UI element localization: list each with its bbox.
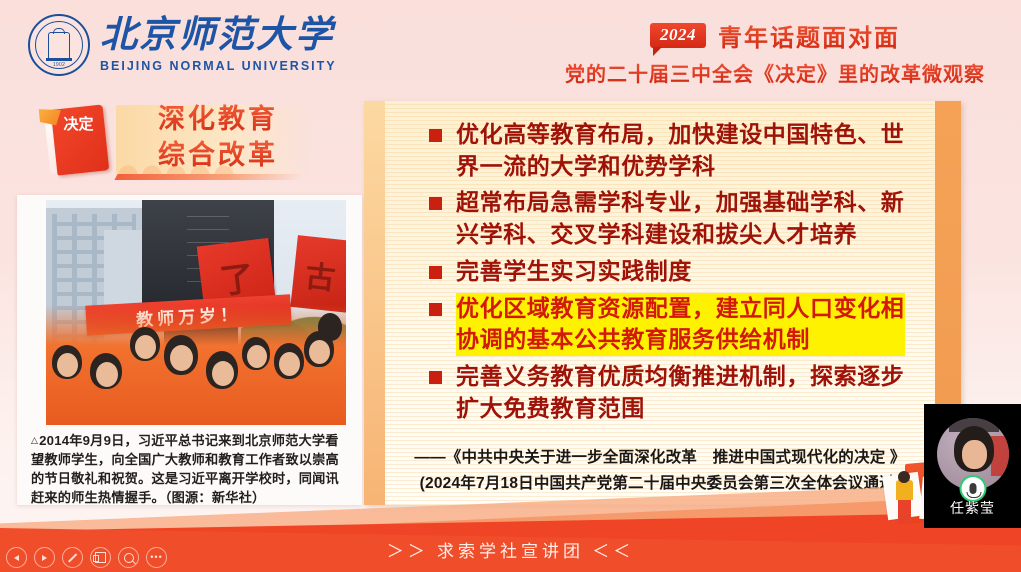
pen-tool-icon[interactable]: [62, 547, 83, 568]
book-label: 决定: [60, 117, 96, 134]
bullet-text: 优化区域教育资源配置，建立同人口变化相协调的基本公共教育服务供给机制: [456, 293, 905, 356]
bullet-item: 超常布局急需学科专业，加强基础学科、新兴学科、交叉学科建设和拔尖人才培养: [429, 187, 905, 250]
bullet-text: 完善义务教育优质均衡推进机制，探索逐步扩大免费教育范围: [456, 361, 905, 424]
panel-left-border: [364, 101, 385, 505]
section-title-band: 决定 深化教育 综合改革: [38, 101, 308, 179]
caption-marker-icon: △: [31, 435, 38, 445]
photo-card: 教师万岁！ △2014年9月9日，: [17, 195, 362, 505]
section-title-text: 深化教育 综合改革: [158, 101, 278, 174]
program-subtitle: 党的二十届三中全会《决定》里的改革微观察: [565, 58, 985, 87]
bullet-item: 完善义务教育优质均衡推进机制，探索逐步扩大免费教育范围: [429, 361, 905, 424]
section-title-line2: 综合改革: [158, 137, 278, 173]
decision-book-icon: 决定: [40, 99, 119, 180]
program-title: 青年话题面对面: [718, 18, 900, 53]
slide-canvas: 1902 北京师范大学 BEIJING NORMAL UNIVERSITY 20…: [0, 0, 1021, 572]
bullet-square-icon: [429, 371, 442, 384]
play-slide-icon[interactable]: [34, 547, 55, 568]
citation-source: ——《中共中央关于进一步全面深化改革 推进中国式现代化的决定 》: [411, 445, 909, 467]
bullet-text: 完善学生实习实践制度: [456, 256, 692, 288]
bullet-item-highlighted: 优化区域教育资源配置，建立同人口变化相协调的基本公共教育服务供给机制: [429, 293, 905, 356]
bullet-list: 优化高等教育布局，加快建设中国特色、世界一流的大学和优势学科 超常布局急需学科专…: [429, 119, 905, 430]
previous-slide-icon[interactable]: [6, 547, 27, 568]
bullet-square-icon: [429, 129, 442, 142]
content-panel: 优化高等教育布局，加快建设中国特色、世界一流的大学和优势学科 超常布局急需学科专…: [364, 101, 961, 505]
slideshow-toolbar[interactable]: •••: [6, 547, 167, 568]
bullet-item: 优化高等教育布局，加快建设中国特色、世界一流的大学和优势学科: [429, 119, 905, 182]
more-options-icon[interactable]: •••: [146, 547, 167, 568]
logo-english-name: BEIJING NORMAL UNIVERSITY: [100, 59, 337, 73]
panel-body: 优化高等教育布局，加快建设中国特色、世界一流的大学和优势学科 超常布局急需学科专…: [385, 101, 935, 505]
magnifier-icon[interactable]: [118, 547, 139, 568]
presenter-name: 任紫莹: [924, 498, 1021, 518]
program-title-block: 2024 青年话题面对面 党的二十届三中全会《决定》里的改革微观察: [565, 18, 985, 87]
year-badge: 2024: [650, 23, 706, 48]
caption-text: 2014年9月9日，习近平总书记来到北京师范大学看望教师学生，向全国广大教师和教…: [31, 433, 339, 505]
photo-crowd: [46, 305, 346, 425]
logo-chinese-name: 北京师范大学: [100, 17, 337, 56]
citation-block: ——《中共中央关于进一步全面深化改革 推进中国式现代化的决定 》 (2024年7…: [411, 445, 909, 493]
photo-caption: △2014年9月9日，习近平总书记来到北京师范大学看望教师学生，向全国广大教师和…: [17, 427, 362, 508]
presenter-video-tile[interactable]: 任紫莹: [924, 404, 1021, 528]
microphone-icon[interactable]: [961, 477, 984, 500]
bullet-text: 超常布局急需学科专业，加强基础学科、新兴学科、交叉学科建设和拔尖人才培养: [456, 187, 905, 250]
bullet-square-icon: [429, 197, 442, 210]
university-seal-icon: 1902: [28, 14, 90, 76]
photo-sign-2: [290, 235, 346, 313]
bullet-text: 优化高等教育布局，加快建设中国特色、世界一流的大学和优势学科: [456, 119, 905, 182]
seal-year: 1902: [30, 62, 88, 68]
slide-layout-icon[interactable]: [90, 547, 111, 568]
bullet-square-icon: [429, 303, 442, 316]
bullet-item: 完善学生实习实践制度: [429, 256, 905, 288]
university-logo: 1902 北京师范大学 BEIJING NORMAL UNIVERSITY: [28, 14, 337, 76]
section-title-line1: 深化教育: [158, 101, 278, 137]
news-photo: 教师万岁！: [46, 200, 346, 425]
bullet-square-icon: [429, 266, 442, 279]
